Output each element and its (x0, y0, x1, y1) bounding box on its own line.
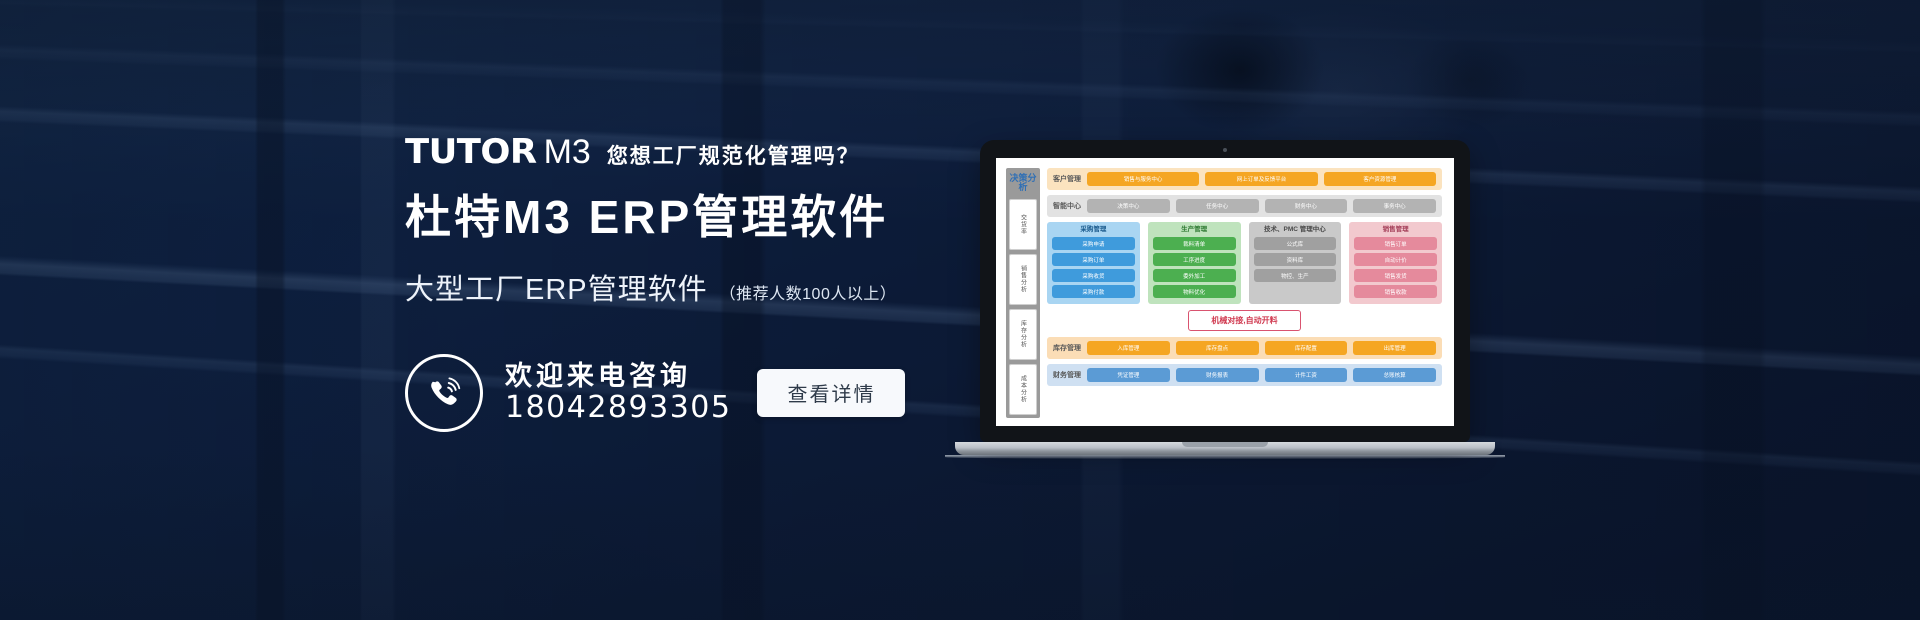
band-chip: 库存配置 (1265, 341, 1348, 355)
kicker-question: 您想工厂规范化管理吗？ (607, 146, 860, 167)
column-item: 采购申请 (1052, 237, 1135, 250)
column-item: 委外加工 (1153, 269, 1236, 282)
band-label: 库存管理 (1053, 343, 1081, 353)
column-item: 公式库 (1254, 237, 1337, 250)
diagram-band-smart-center: 智能中心 决策中心 任务中心 财务中心 事务中心 (1047, 195, 1442, 217)
column-item: 物控、生产 (1254, 269, 1337, 282)
laptop-lid: 决策分析 交货率 销售分析 库存分析 成本分析 客户管理 销售与服务中心 网上订… (980, 140, 1470, 442)
diagram-band-finance: 财务管理 凭证管理 财务报表 计件工资 总账核算 (1047, 364, 1442, 386)
column-item: 销售发货 (1354, 269, 1437, 282)
m3-wordmark: M3 (544, 135, 591, 169)
subtitle-main: 大型工厂ERP管理软件 (405, 266, 708, 308)
diagram-column-sales: 销售管理 销售订单 自动计价 销售发货 销售收款 (1349, 222, 1442, 304)
band-chip: 出库管理 (1353, 341, 1436, 355)
diagram-sidebar-item-delivery: 交货率 (1009, 199, 1037, 250)
band-label: 客户管理 (1053, 174, 1081, 184)
band-chip: 计件工资 (1265, 368, 1348, 382)
erp-architecture-diagram: 决策分析 交货率 销售分析 库存分析 成本分析 客户管理 销售与服务中心 网上订… (996, 158, 1454, 426)
column-item: 采购付款 (1052, 285, 1135, 298)
band-chip: 客户资源管理 (1324, 172, 1436, 186)
column-item: 资料库 (1254, 253, 1337, 266)
tutor-wordmark: TUTOR (405, 135, 537, 169)
laptop-base (955, 442, 1495, 455)
diagram-callout-machine-docking: 机械对接,自动开料 (1188, 310, 1300, 331)
contact-welcome-label: 欢迎来电咨询 (505, 361, 731, 391)
laptop-foot-shadow (945, 455, 1505, 459)
laptop-screen: 决策分析 交货率 销售分析 库存分析 成本分析 客户管理 销售与服务中心 网上订… (996, 158, 1454, 426)
column-item: 采购收货 (1052, 269, 1135, 282)
column-title: 技术、PMC 管理中心 (1254, 226, 1337, 233)
diagram-main-column: 客户管理 销售与服务中心 网上订单及反馈平台 客户资源管理 智能中心 决策中心 … (1047, 168, 1442, 418)
column-title: 采购管理 (1052, 226, 1135, 233)
column-item: 物料优化 (1153, 285, 1236, 298)
column-item: 工序进度 (1153, 253, 1236, 266)
column-item: 裁料清单 (1153, 237, 1236, 250)
band-chip: 库存盘点 (1176, 341, 1259, 355)
band-chip: 总账核算 (1353, 368, 1436, 382)
column-item: 自动计价 (1354, 253, 1437, 266)
diagram-sidebar: 决策分析 交货率 销售分析 库存分析 成本分析 (1006, 168, 1040, 418)
column-title: 销售管理 (1354, 226, 1437, 233)
diagram-band-customer: 客户管理 销售与服务中心 网上订单及反馈平台 客户资源管理 (1047, 168, 1442, 190)
laptop-base-notch (1182, 442, 1268, 447)
subtitle-note: （推荐人数100人以上） (720, 280, 897, 304)
diagram-column-production: 生产管理 裁料清单 工序进度 委外加工 物料优化 (1148, 222, 1241, 304)
band-chip: 销售与服务中心 (1087, 172, 1199, 186)
column-item: 采购订单 (1052, 253, 1135, 266)
laptop-camera-icon (1223, 148, 1227, 152)
diagram-column-purchase: 采购管理 采购申请 采购订单 采购收货 采购付款 (1047, 222, 1140, 304)
diagram-band-inventory: 库存管理 入库管理 库存盘点 库存配置 出库管理 (1047, 337, 1442, 359)
diagram-sidebar-title: 决策分析 (1009, 171, 1037, 195)
band-chip: 入库管理 (1087, 341, 1170, 355)
column-item: 销售订单 (1354, 237, 1437, 250)
band-label: 财务管理 (1053, 370, 1081, 380)
band-label: 智能中心 (1053, 201, 1081, 211)
column-item: 销售收款 (1354, 285, 1437, 298)
band-chip: 决策中心 (1087, 199, 1170, 213)
diagram-sidebar-item-inventory: 库存分析 (1009, 309, 1037, 360)
band-chip: 凭证管理 (1087, 368, 1170, 382)
band-chip: 任务中心 (1176, 199, 1259, 213)
phone-call-icon (405, 354, 483, 432)
band-chip: 财务中心 (1265, 199, 1348, 213)
diagram-column-tech-pmc: 技术、PMC 管理中心 公式库 资料库 物控、生产 (1249, 222, 1342, 304)
view-details-button[interactable]: 查看详情 (757, 369, 905, 417)
contact-text-block: 欢迎来电咨询 18042893305 (505, 361, 731, 425)
diagram-module-columns: 采购管理 采购申请 采购订单 采购收货 采购付款 生产管理 裁料清单 工序进度 … (1047, 222, 1442, 304)
contact-phone-number[interactable]: 18042893305 (505, 391, 731, 425)
diagram-sidebar-item-cost: 成本分析 (1009, 364, 1037, 415)
column-title: 生产管理 (1153, 226, 1236, 233)
band-chip: 财务报表 (1176, 368, 1259, 382)
diagram-sidebar-item-sales: 销售分析 (1009, 254, 1037, 305)
band-chip: 事务中心 (1353, 199, 1436, 213)
hero-banner: TUTOR M3 您想工厂规范化管理吗？ 杜特M3 ERP管理软件 大型工厂ER… (0, 0, 1920, 620)
band-chip: 网上订单及反馈平台 (1205, 172, 1317, 186)
laptop-mockup: 决策分析 交货率 销售分析 库存分析 成本分析 客户管理 销售与服务中心 网上订… (980, 140, 1470, 459)
